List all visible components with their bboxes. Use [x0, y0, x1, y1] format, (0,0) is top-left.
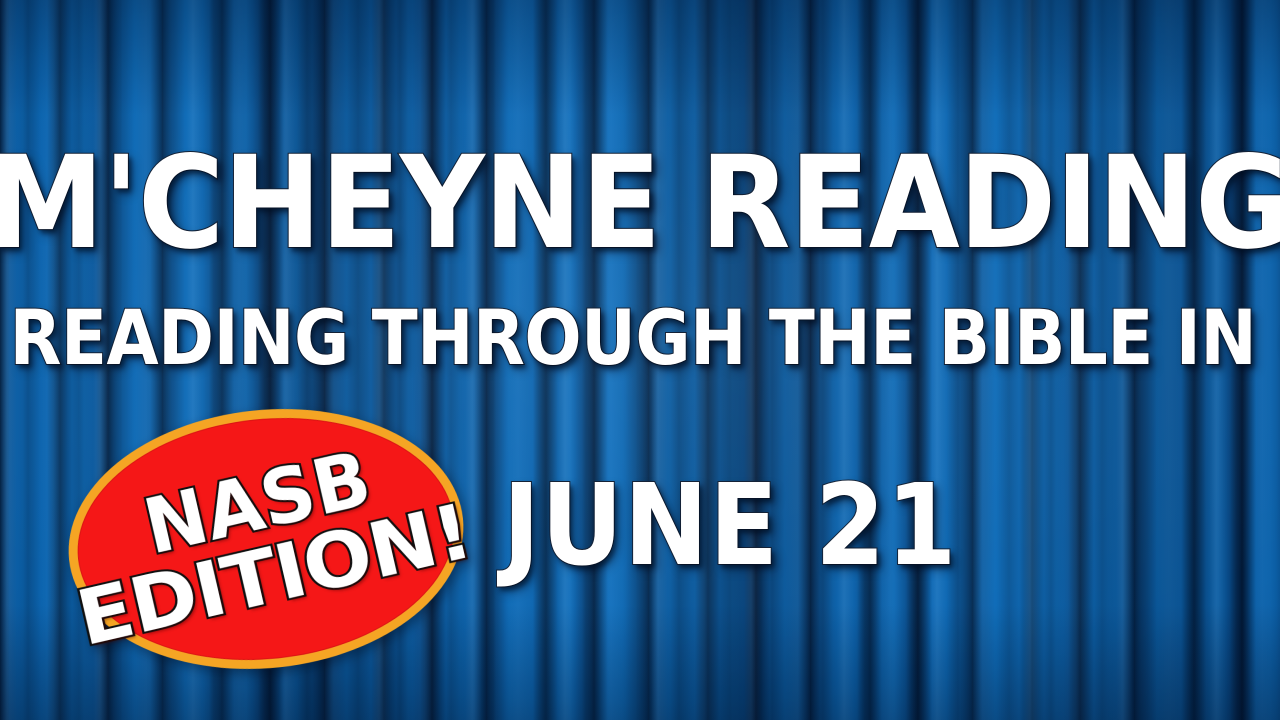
page-subtitle: READING THROUGH THE BIBLE IN ONE YEAR: [10, 300, 1271, 376]
nasb-edition-badge: NASB EDITION!: [56, 390, 477, 688]
video-thumbnail-canvas: M'CHEYNE READING PLAN READING THROUGH TH…: [0, 0, 1280, 720]
page-title: M'CHEYNE READING PLAN: [0, 140, 1280, 268]
